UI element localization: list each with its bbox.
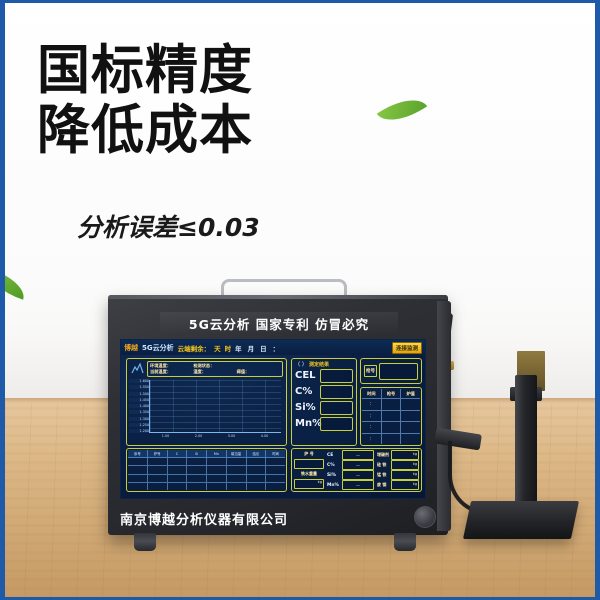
log-table-grid: 时间 枪号 炉值 ： ： ： — [362, 389, 420, 444]
iron-weight-input[interactable] — [294, 479, 324, 489]
log-col-time: 时间 — [362, 389, 382, 398]
cell — [148, 458, 168, 465]
cell — [247, 466, 267, 473]
result-row-cel: CEL — [295, 369, 353, 383]
gun-row: 枪号 — [361, 359, 421, 383]
gun-number-panel[interactable]: 枪号 — [360, 358, 422, 384]
range-label-mn: Mn% — [327, 483, 340, 488]
x-tick: 3.00 — [228, 434, 236, 442]
col-header: 碳当量 — [227, 450, 247, 457]
range-label-c: C% — [327, 463, 340, 468]
iron-weight-label: 铁水重量 — [294, 471, 324, 477]
cell — [148, 483, 168, 490]
addition-value-ferromanganese[interactable] — [391, 470, 419, 480]
cell — [227, 458, 247, 465]
cell: ： — [362, 422, 382, 433]
col-header: Si — [187, 450, 207, 457]
addition-label-carbon: 增碳剂 — [377, 452, 389, 458]
headline-line-1: 国标精度 — [37, 41, 367, 101]
calc-left-column: 炉 号 铁水重量 — [294, 451, 324, 489]
probe-stand-post — [515, 375, 537, 515]
result-label-si: Si% — [295, 402, 317, 414]
addition-label-ferromanganese: 锰 铁 — [377, 472, 389, 478]
cell — [187, 475, 207, 482]
log-col-gun: 枪号 — [382, 389, 402, 398]
company-name: 南京博越分析仪器有限公司 — [120, 509, 288, 528]
col-header: 时间 — [266, 450, 285, 457]
table-header-row: 序号 炉号 C Si Mn 碳当量 结论 时间 — [128, 450, 285, 458]
range-input-si[interactable]: — — [342, 470, 374, 480]
calc-additions-column: 增碳剂 硅 铁 锰 铁 废 钢 — [377, 451, 419, 489]
cell — [247, 475, 267, 482]
cell: ： — [362, 399, 382, 410]
furnace-number-label: 炉 号 — [294, 451, 324, 457]
device-foot-right — [394, 533, 416, 551]
cell — [187, 483, 207, 490]
range-row-si: Si% — — [327, 471, 374, 479]
screen-header-bar: 博越 5G云分析 云端剩余： 天 时 年 月 日 ： 连接监测 — [121, 340, 425, 355]
results-title-row: （ ） 测定结果 — [292, 359, 356, 368]
x-tick: 4.00 — [261, 434, 269, 442]
furnace-number-input[interactable] — [294, 459, 324, 469]
col-header: 炉号 — [148, 450, 168, 457]
chart-plot-area — [149, 380, 281, 433]
cell — [128, 483, 148, 490]
time-colon: ： — [273, 343, 282, 353]
cell — [382, 434, 402, 445]
result-row-c: C% — [295, 385, 353, 399]
headline-block: 国标精度 降低成本 — [37, 41, 367, 161]
result-label-c: C% — [295, 386, 317, 398]
chart-meta-readouts: 环境温度： 检测状态： 当前温度： 湿度： 阈值： — [147, 361, 283, 377]
cell — [266, 483, 285, 490]
addition-row-carbon: 增碳剂 — [377, 451, 419, 459]
cell — [148, 475, 168, 482]
calc-inner: 炉 号 铁水重量 CE — C% — — [292, 449, 421, 491]
cell — [168, 458, 188, 465]
range-input-ce[interactable]: — — [342, 450, 374, 460]
results-rows: CEL C% Si% Mn% — [292, 368, 356, 432]
cell — [148, 466, 168, 473]
chart-y-axis-ticks: 1.600 1.550 1.500 1.450 1.400 1.350 1.30… — [129, 379, 149, 433]
results-title: 测定结果 — [309, 361, 329, 368]
cell — [207, 458, 227, 465]
log-header-row: 时间 枪号 炉值 — [362, 389, 420, 399]
table-row[interactable] — [128, 475, 285, 483]
cell — [207, 466, 227, 473]
cell — [207, 483, 227, 490]
threshold-label: 阈值： — [237, 369, 280, 375]
sub-headline: 分析误差≤0.03 — [77, 208, 260, 244]
device-brand-bar: 南京博越分析仪器有限公司 — [108, 503, 438, 533]
cell — [266, 466, 285, 473]
cell: ： — [362, 434, 382, 445]
measurement-log-panel[interactable]: 时间 枪号 炉值 ： ： ： — [360, 387, 422, 446]
cell — [227, 475, 247, 482]
device-side-panel — [437, 301, 451, 531]
headline-line-2: 降低成本 — [37, 101, 367, 161]
addition-label-scrap: 废 钢 — [377, 482, 389, 488]
addition-row-ferromanganese: 锰 铁 — [377, 471, 419, 479]
x-tick: 2.00 — [195, 434, 203, 442]
range-label-si: Si% — [327, 473, 340, 478]
range-input-c[interactable]: — — [342, 460, 374, 470]
col-header: 结论 — [247, 450, 267, 457]
y-tick: 1.350 — [129, 410, 149, 414]
result-value-si[interactable] — [320, 401, 353, 415]
y-tick: 1.550 — [129, 385, 149, 389]
chart-logo-icon — [130, 362, 144, 374]
range-row-mn: Mn% — — [327, 481, 374, 489]
x-tick: 1.00 — [162, 434, 170, 442]
result-value-c[interactable] — [320, 385, 353, 399]
y-tick: 1.400 — [129, 404, 149, 408]
cell — [128, 466, 148, 473]
chart-x-axis-ticks: 1.00 2.00 3.00 4.00 — [149, 434, 281, 442]
table-row[interactable] — [128, 466, 285, 474]
probe-stand-base — [463, 501, 579, 539]
cell — [168, 483, 188, 490]
log-row[interactable]: ： — [362, 434, 420, 445]
cloud-remaining-hours: 时 — [225, 343, 232, 353]
result-value-mn[interactable] — [320, 417, 353, 431]
cell — [207, 475, 227, 482]
paren-open: （ — [295, 361, 300, 368]
log-row[interactable]: ： — [362, 411, 420, 423]
log-col-furnace: 炉值 — [401, 389, 420, 398]
cooling-curve-chart-panel[interactable]: 环境温度： 检测状态： 当前温度： 湿度： 阈值： 1.600 1.550 1.… — [126, 358, 287, 446]
cell — [168, 466, 188, 473]
cell — [187, 458, 207, 465]
addition-row-ferrosilicon: 硅 铁 — [377, 461, 419, 469]
range-row-c: C% — — [327, 461, 374, 469]
connect-monitor-button[interactable]: 连接监测 — [392, 342, 422, 354]
cell — [247, 458, 267, 465]
result-label-cel: CEL — [295, 370, 317, 382]
addition-value-carbon[interactable] — [391, 450, 419, 460]
cell — [401, 399, 420, 410]
y-tick: 1.450 — [129, 398, 149, 402]
cell — [168, 475, 188, 482]
history-table-grid: 序号 炉号 C Si Mn 碳当量 结论 时间 — [128, 450, 285, 490]
range-row-ce: CE — — [327, 451, 374, 459]
cell — [266, 475, 285, 482]
device-top-highlight — [108, 295, 448, 299]
history-table-panel[interactable]: 序号 炉号 C Si Mn 碳当量 结论 时间 — [126, 448, 287, 492]
result-row-mn: Mn% — [295, 417, 353, 431]
addition-value-scrap[interactable] — [391, 480, 419, 490]
measurement-results-panel[interactable]: （ ） 测定结果 CEL C% Si% — [291, 358, 357, 446]
col-header: 序号 — [128, 450, 148, 457]
log-row[interactable]: ： — [362, 422, 420, 434]
result-row-si: Si% — [295, 401, 353, 415]
current-temp-label: 当前温度： — [150, 369, 193, 375]
y-tick: 1.500 — [129, 392, 149, 396]
analyzer-device: 5G云分析 国家专利 仿冒必究 博越 5G云分析 云端剩余： 天 时 年 月 日… — [108, 295, 448, 535]
col-header: Mn — [207, 450, 227, 457]
cell — [227, 466, 247, 473]
cell — [401, 434, 420, 445]
cloud-remaining-days: 天 — [214, 343, 221, 353]
addition-label-ferrosilicon: 硅 铁 — [377, 462, 389, 468]
addition-row-scrap: 废 钢 — [377, 481, 419, 489]
charge-calculation-panel[interactable]: 炉 号 铁水重量 CE — C% — — [291, 448, 422, 492]
gun-number-input[interactable] — [379, 363, 418, 380]
cell — [227, 483, 247, 490]
cell — [401, 422, 420, 433]
cell — [382, 411, 402, 422]
col-header: C — [168, 450, 188, 457]
result-label-mn: Mn% — [295, 418, 317, 430]
device-banner: 5G云分析 国家专利 仿冒必究 — [160, 312, 398, 334]
y-tick: 1.600 — [129, 379, 149, 383]
cell: ： — [362, 411, 382, 422]
y-tick: 1.250 — [129, 423, 149, 427]
table-row[interactable] — [128, 483, 285, 490]
cell — [401, 411, 420, 422]
humidity-label: 湿度： — [193, 369, 236, 375]
gun-number-label: 枪号 — [364, 365, 377, 377]
power-button[interactable] — [414, 506, 436, 528]
result-value-cel[interactable] — [320, 369, 353, 383]
log-row[interactable]: ： — [362, 399, 420, 411]
screen-app-name: 5G云分析 — [142, 343, 174, 353]
cell — [128, 458, 148, 465]
cell — [247, 483, 267, 490]
calc-range-column: CE — C% — Si% — Mn% — — [327, 451, 374, 489]
date-month-label: 月 — [248, 343, 257, 353]
device-foot-left — [134, 533, 156, 551]
y-tick: 1.200 — [129, 429, 149, 433]
y-tick: 1.300 — [129, 417, 149, 421]
screen-brand: 博越 — [124, 343, 138, 353]
cell — [187, 466, 207, 473]
addition-value-ferrosilicon[interactable] — [391, 460, 419, 470]
device-screen[interactable]: 博越 5G云分析 云端剩余： 天 时 年 月 日 ： 连接监测 环境 — [120, 339, 426, 499]
cell — [382, 399, 402, 410]
paren-close: ） — [302, 361, 307, 368]
cell — [382, 422, 402, 433]
range-input-mn[interactable]: — — [342, 480, 374, 490]
cloud-remaining-label: 云端剩余： — [178, 343, 211, 353]
range-label-ce: CE — [327, 453, 340, 458]
cell — [266, 458, 285, 465]
date-year-label: 年 — [235, 343, 244, 353]
poster-canvas: 国标精度 降低成本 分析误差≤0.03 5G云分析 国家专利 仿冒必究 博越 5… — [0, 0, 600, 600]
date-day-label: 日 — [260, 343, 269, 353]
cell — [128, 475, 148, 482]
table-row[interactable] — [128, 458, 285, 466]
